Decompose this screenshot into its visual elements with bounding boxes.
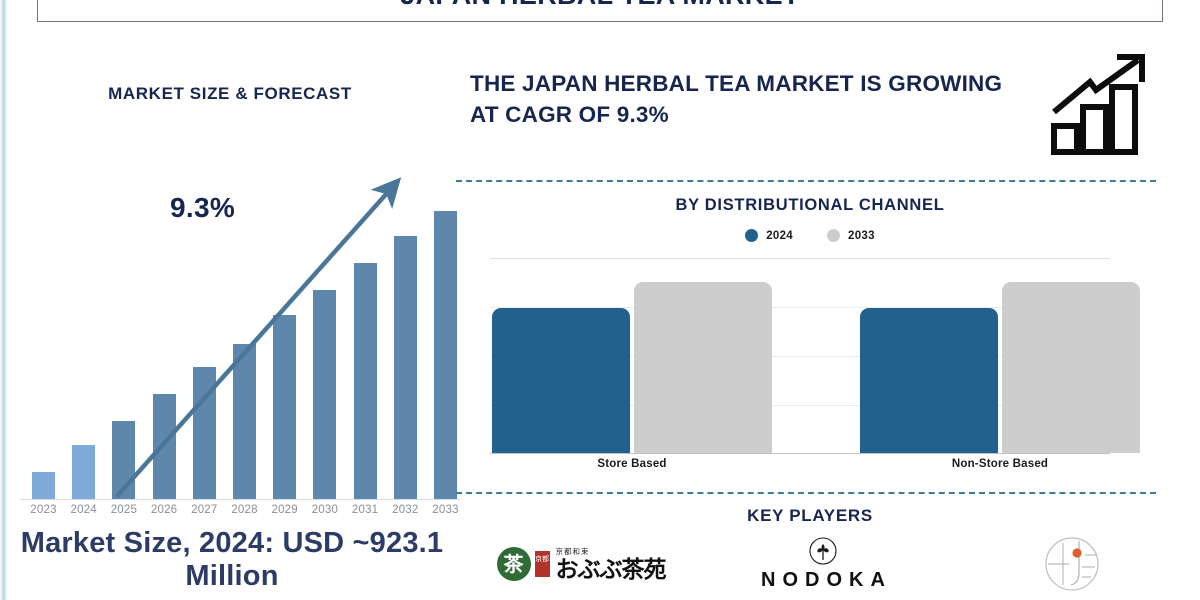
nodoka-logo: NODOKA xyxy=(718,528,928,600)
forecast-year-axis: 2023202420252026202720282029203020312032… xyxy=(14,504,464,522)
channel-bar xyxy=(634,282,772,453)
by-distributional-channel-chart xyxy=(490,258,1110,454)
key-players-heading: KEY PLAYERS xyxy=(460,506,1160,526)
legend-swatch-icon xyxy=(827,229,840,242)
year-label: 2024 xyxy=(62,504,106,516)
red-seal-icon: 京都 xyxy=(535,551,550,577)
category-label: Store Based xyxy=(597,458,666,470)
legend-item[interactable]: 2024 xyxy=(745,229,793,242)
obubu-small-text: 京都和束 xyxy=(556,546,666,557)
chart-baseline xyxy=(490,453,1110,454)
legend-item[interactable]: 2033 xyxy=(827,229,875,242)
chart-legend: 20242033 xyxy=(460,229,1160,242)
year-label: 2032 xyxy=(383,504,427,516)
channel-bar xyxy=(492,308,630,453)
green-tea-seal-icon: 茶 xyxy=(497,547,531,581)
year-label: 2027 xyxy=(182,504,226,516)
channel-bar xyxy=(860,308,998,453)
year-label: 2025 xyxy=(102,504,146,516)
channel-bar xyxy=(1002,282,1140,453)
year-label: 2023 xyxy=(22,504,66,516)
cagr-statement: THE JAPAN HERBAL TEA MARKET IS GROWING A… xyxy=(470,68,1030,130)
channel-category-axis: Store BasedNon-Store Based xyxy=(490,458,1110,474)
year-label: 2026 xyxy=(142,504,186,516)
category-label: Non-Store Based xyxy=(952,458,1048,470)
distributional-channel-heading: BY DISTRIBUTIONAL CHANNEL xyxy=(460,196,1160,215)
obubu-brand-text: おぶぶ茶苑 xyxy=(556,558,666,582)
page-title: JAPAN HERBAL TEA MARKET xyxy=(37,0,1163,18)
leaf-in-circle-icon xyxy=(808,536,838,566)
legend-swatch-icon xyxy=(745,229,758,242)
japanese-circular-mark-logo xyxy=(984,528,1160,600)
market-size-value: Market Size, 2024: USD ~923.1 Million xyxy=(8,527,456,593)
year-label: 2031 xyxy=(343,504,387,516)
divider-dashed-top xyxy=(456,180,1156,182)
market-size-heading: MARKET SIZE & FORECAST xyxy=(20,84,440,104)
key-players-logos: 茶 京都 京都和束 おぶぶ茶苑 NODOKA xyxy=(456,528,1160,600)
obubu-tea-farms-logo: 茶 京都 京都和束 おぶぶ茶苑 xyxy=(456,528,706,600)
legend-label: 2024 xyxy=(766,230,793,242)
growth-arrow xyxy=(14,170,464,510)
infographic-canvas: JAPAN HERBAL TEA MARKET MARKET SIZE & FO… xyxy=(0,0,1200,600)
divider-dashed-bottom xyxy=(456,492,1156,494)
year-label: 2029 xyxy=(263,504,307,516)
gridline xyxy=(490,258,1110,259)
growth-bar-arrow-icon xyxy=(1046,52,1156,157)
year-label: 2028 xyxy=(223,504,267,516)
circle-abstract-icon xyxy=(1041,533,1103,595)
legend-label: 2033 xyxy=(848,230,875,242)
left-edge-strip xyxy=(0,0,7,600)
year-label: 2030 xyxy=(303,504,347,516)
nodoka-wordmark: NODOKA xyxy=(754,569,892,592)
